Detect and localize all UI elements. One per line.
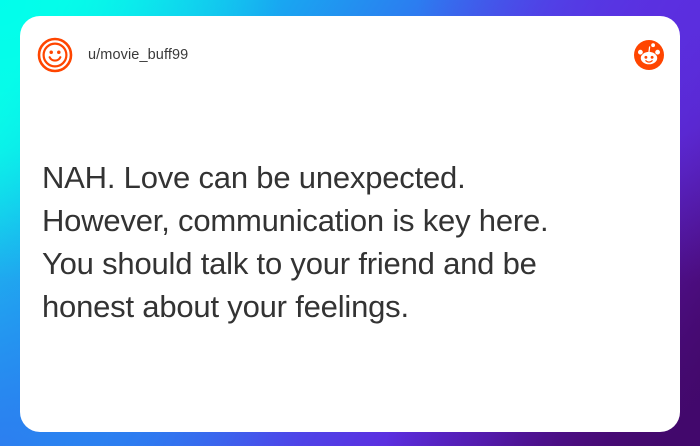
- card-body: NAH. Love can be unexpected. However, co…: [42, 156, 658, 328]
- username-label: u/movie_buff99: [88, 47, 188, 63]
- comment-text: NAH. Love can be unexpected. However, co…: [42, 156, 658, 328]
- gradient-background: u/movie_buff99 NAH. Love can be unexpect…: [0, 0, 700, 446]
- card-header: u/movie_buff99: [36, 32, 664, 78]
- reddit-snoo-icon[interactable]: [634, 40, 664, 70]
- smiley-face-avatar-icon: [36, 36, 74, 74]
- reddit-comment-card: u/movie_buff99 NAH. Love can be unexpect…: [20, 16, 680, 432]
